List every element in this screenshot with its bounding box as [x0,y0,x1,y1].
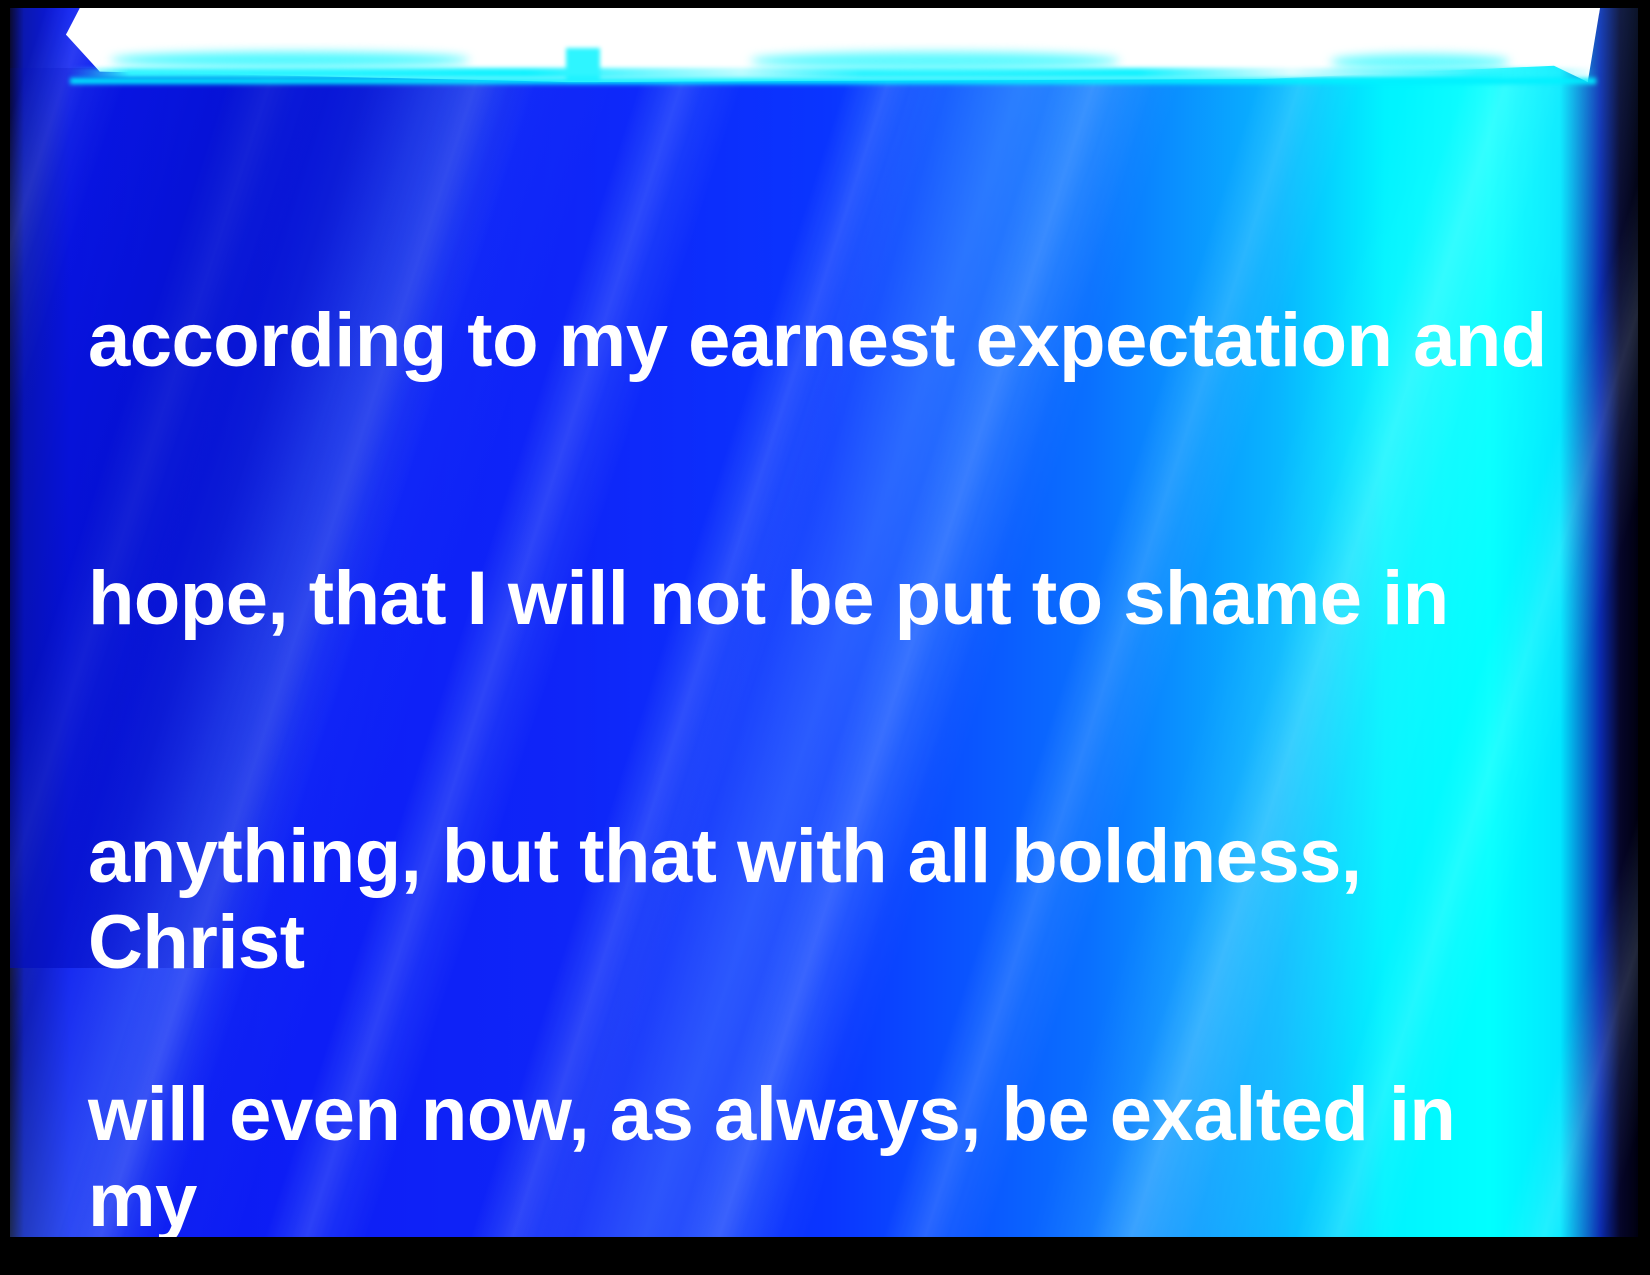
band-cyan-blob-right [1330,54,1510,70]
band-cyan-blob-center [750,52,1120,70]
band-cyan-underline [70,78,1596,84]
band-cyan-blob-left [110,52,470,68]
verse-line-4: will even now, as always, be exalted in … [88,1072,1558,1158]
verse-text-block: according to my earnest expectation and … [88,126,1558,1237]
band-cyan-streak [68,68,1598,78]
band-white-shape [66,8,1600,82]
verse-line-2: hope, that I will not be put to shame in [88,556,1558,642]
blue-gradient-background: according to my earnest expectation and … [10,8,1638,1237]
top-white-light-band [10,8,1638,92]
scripture-slide: according to my earnest expectation and … [0,0,1650,1275]
verse-line-3: anything, but that with all boldness, Ch… [88,814,1558,900]
band-cyan-notch [566,48,600,80]
verse-line-1: according to my earnest expectation and [88,298,1558,384]
